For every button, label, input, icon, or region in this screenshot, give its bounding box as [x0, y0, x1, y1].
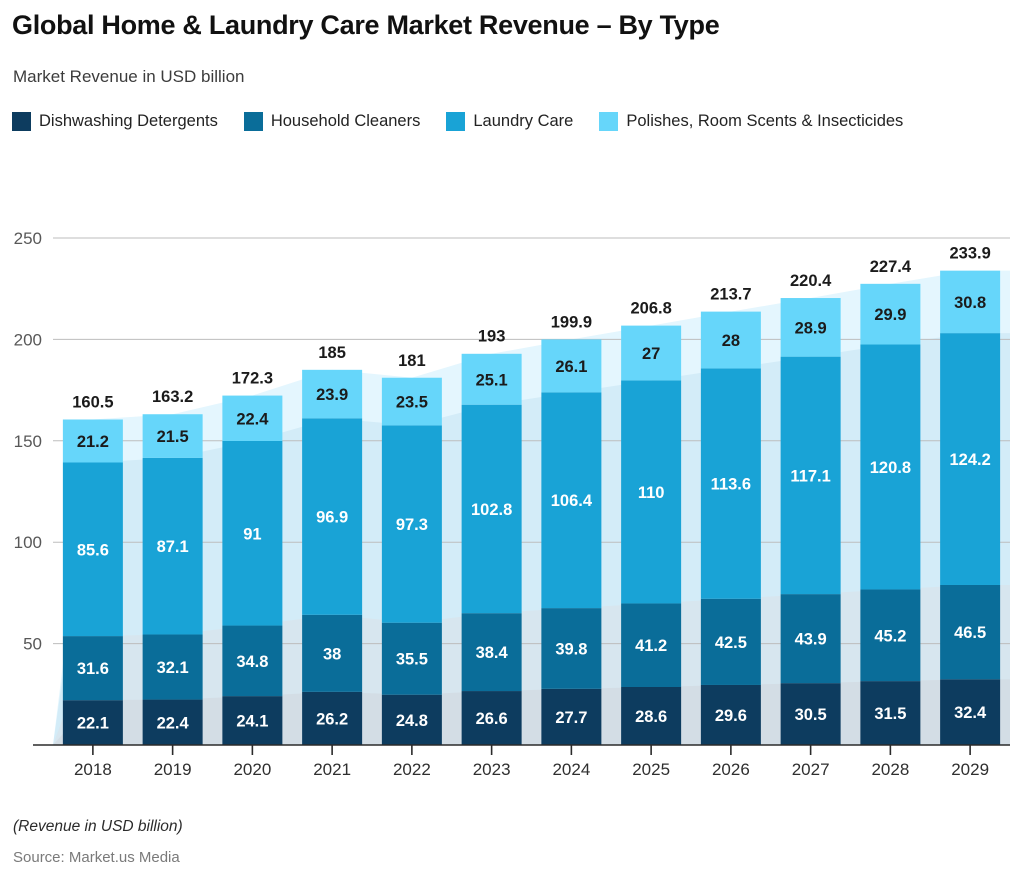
bar-segment-value-label: 22.1: [77, 715, 109, 733]
chart-page: Global Home & Laundry Care Market Revenu…: [0, 0, 1022, 883]
bar-segment[interactable]: [701, 599, 761, 685]
bar-segment[interactable]: [860, 681, 920, 745]
bar-total-label: 213.7: [710, 286, 751, 304]
bar-segment[interactable]: [621, 687, 681, 745]
y-axis-tick-label: 100: [14, 533, 42, 552]
bar-total-label: 227.4: [870, 258, 912, 276]
x-axis-tick-label: 2026: [712, 760, 750, 779]
bar-segment[interactable]: [940, 271, 1000, 333]
bar-segment-value-label: 30.8: [954, 294, 986, 312]
bar-segment-value-label: 26.6: [476, 710, 508, 728]
bar-segment[interactable]: [302, 692, 362, 745]
x-axis-tick-label: 2018: [74, 760, 112, 779]
y-axis-tick-label: 50: [23, 635, 42, 654]
bar-segment-value-label: 28.6: [635, 708, 667, 726]
bar-segment-value-label: 96.9: [316, 509, 348, 527]
bar-segment-value-label: 97.3: [396, 516, 428, 534]
bar-segment-value-label: 38.4: [476, 644, 509, 662]
legend-item-1[interactable]: Household Cleaners: [244, 112, 421, 131]
background-area-2: [53, 333, 1010, 745]
bar-segment-value-label: 27.7: [555, 709, 587, 727]
bar-segment[interactable]: [781, 357, 841, 594]
bar-segment[interactable]: [940, 333, 1000, 585]
chart-subtitle: Market Revenue in USD billion: [13, 67, 245, 87]
bar-segment[interactable]: [541, 392, 601, 608]
background-area-layers: [53, 271, 1010, 745]
bar-segment[interactable]: [222, 696, 282, 745]
bar-segment[interactable]: [541, 608, 601, 689]
legend-item-2[interactable]: Laundry Care: [446, 112, 573, 131]
bar-total-label: 163.2: [152, 388, 193, 406]
bar-segment-value-label: 28.9: [795, 319, 827, 337]
bar-segment[interactable]: [222, 396, 282, 441]
legend-item-label: Polishes, Room Scents & Insecticides: [626, 112, 903, 131]
y-axis-tick-label: 150: [14, 432, 42, 451]
bar-segment[interactable]: [621, 326, 681, 381]
bar-total-label: 160.5: [72, 394, 113, 412]
bar-segment[interactable]: [382, 623, 442, 695]
background-area-0: [53, 679, 1010, 745]
x-axis-tick-label: 2023: [473, 760, 511, 779]
bar-total-label: 199.9: [551, 314, 592, 332]
bar-segment-value-label: 31.5: [874, 705, 906, 723]
bar-segment-value-label: 39.8: [555, 640, 587, 658]
bar-segment-value-label: 113.6: [711, 476, 751, 494]
bar-segment[interactable]: [63, 420, 123, 463]
bar-segment[interactable]: [701, 685, 761, 745]
bar-segment[interactable]: [781, 298, 841, 357]
bar-segment[interactable]: [940, 679, 1000, 745]
bar-segment-value-label: 31.6: [77, 660, 109, 678]
bar-segment-value-label: 23.9: [316, 386, 348, 404]
bar-total-label: 206.8: [630, 300, 671, 318]
axes-layer: 2018201920202021202220232024202520262027…: [33, 745, 1010, 779]
bar-segment-value-label: 120.8: [870, 459, 911, 477]
chart-plot-area: 5010015020025022.131.685.621.2160.522.43…: [0, 0, 1022, 883]
bar-segment-value-label: 25.1: [476, 371, 508, 389]
bar-segment[interactable]: [541, 689, 601, 745]
bar-segment[interactable]: [462, 691, 522, 745]
bar-segment[interactable]: [462, 405, 522, 613]
bar-segment-value-label: 41.2: [635, 637, 667, 655]
bar-segment[interactable]: [701, 368, 761, 598]
bar-segment-value-label: 24.1: [236, 713, 268, 731]
bar-segment-value-label: 87.1: [157, 538, 189, 556]
legend-item-3[interactable]: Polishes, Room Scents & Insecticides: [599, 112, 903, 131]
bar-segment-value-label: 32.4: [954, 704, 987, 722]
bar-segment-value-label: 28: [722, 332, 740, 350]
bar-segment[interactable]: [302, 615, 362, 692]
bar-segment[interactable]: [63, 462, 123, 636]
bar-segment[interactable]: [621, 603, 681, 687]
bar-segment[interactable]: [860, 284, 920, 345]
bar-segment[interactable]: [302, 418, 362, 615]
background-area-1: [53, 585, 1010, 745]
footer-note: (Revenue in USD billion): [13, 818, 183, 836]
bar-segment-value-label: 110: [638, 484, 665, 502]
bar-segment[interactable]: [781, 683, 841, 745]
x-axis-tick-label: 2025: [632, 760, 670, 779]
bar-segment[interactable]: [541, 339, 601, 392]
bar-segment[interactable]: [143, 634, 203, 699]
bar-total-label: 220.4: [790, 272, 832, 290]
bar-total-label: 181: [398, 352, 426, 370]
footer-source: Source: Market.us Media: [13, 849, 180, 866]
bar-segment-value-label: 27: [642, 345, 660, 363]
bar-segment-value-label: 106.4: [551, 492, 593, 510]
bar-segment-value-label: 124.2: [949, 451, 990, 469]
legend-item-label: Laundry Care: [473, 112, 573, 131]
bar-segment-value-label: 34.8: [236, 653, 268, 671]
legend-swatch-icon: [446, 112, 465, 131]
bar-segment[interactable]: [382, 695, 442, 745]
bars-layer: [63, 271, 1000, 745]
bar-total-label: 233.9: [949, 245, 990, 263]
bar-segment[interactable]: [63, 700, 123, 745]
legend-swatch-icon: [599, 112, 618, 131]
bar-segment[interactable]: [860, 344, 920, 589]
bar-segment-value-label: 117.1: [790, 467, 830, 485]
bar-segment-value-label: 26.1: [555, 358, 587, 376]
bar-segment[interactable]: [781, 594, 841, 683]
bar-segment-value-label: 38: [323, 645, 341, 663]
x-axis-tick-label: 2020: [233, 760, 271, 779]
x-axis-tick-label: 2024: [552, 760, 590, 779]
bar-segment[interactable]: [143, 700, 203, 745]
bar-segment-value-label: 30.5: [795, 706, 827, 724]
bar-total-label: 193: [478, 328, 506, 346]
legend-item-0[interactable]: Dishwashing Detergents: [12, 112, 218, 131]
value-labels-layer: 22.131.685.621.2160.522.432.187.121.5163…: [72, 245, 991, 733]
bar-segment-value-label: 21.5: [157, 428, 189, 446]
bar-segment[interactable]: [701, 312, 761, 369]
bar-segment[interactable]: [940, 585, 1000, 679]
background-area-3: [53, 271, 1010, 745]
bar-segment-value-label: 23.5: [396, 394, 428, 412]
bar-segment-value-label: 91: [243, 525, 261, 543]
y-axis-tick-label: 250: [14, 229, 42, 248]
bar-segment[interactable]: [143, 414, 203, 458]
x-axis-tick-label: 2021: [313, 760, 351, 779]
bar-segment-value-label: 24.8: [396, 712, 428, 730]
chart-legend: Dishwashing DetergentsHousehold Cleaners…: [12, 112, 1002, 131]
x-axis-tick-label: 2029: [951, 760, 989, 779]
bar-segment-value-label: 43.9: [795, 631, 827, 649]
bar-segment-value-label: 22.4: [157, 714, 190, 732]
legend-swatch-icon: [12, 112, 31, 131]
y-axis-tick-label: 200: [14, 330, 42, 349]
bar-segment[interactable]: [382, 378, 442, 426]
bar-segment[interactable]: [860, 589, 920, 681]
bar-segment-value-label: 29.6: [715, 707, 747, 725]
bar-segment-value-label: 32.1: [157, 659, 189, 677]
bar-segment[interactable]: [222, 626, 282, 697]
bar-segment-value-label: 22.4: [236, 410, 269, 428]
bar-segment-value-label: 45.2: [874, 627, 906, 645]
x-axis-tick-label: 2022: [393, 760, 431, 779]
bar-segment[interactable]: [63, 636, 123, 700]
bar-segment[interactable]: [462, 354, 522, 405]
legend-item-label: Dishwashing Detergents: [39, 112, 218, 131]
legend-swatch-icon: [244, 112, 263, 131]
bar-segment[interactable]: [302, 370, 362, 418]
bar-segment-value-label: 29.9: [874, 306, 906, 324]
bar-total-label: 172.3: [232, 370, 273, 388]
bar-segment-value-label: 26.2: [316, 710, 348, 728]
bar-segment-value-label: 21.2: [77, 433, 109, 451]
bar-segment[interactable]: [621, 380, 681, 603]
bar-segment-value-label: 46.5: [954, 624, 986, 642]
x-axis-tick-label: 2019: [154, 760, 192, 779]
bar-segment[interactable]: [382, 425, 442, 622]
bar-segment-value-label: 35.5: [396, 651, 428, 669]
gridlines: 50100150200250: [14, 229, 1010, 654]
page-title: Global Home & Laundry Care Market Revenu…: [12, 10, 719, 41]
legend-item-label: Household Cleaners: [271, 112, 421, 131]
x-axis-tick-label: 2028: [871, 760, 909, 779]
bar-segment[interactable]: [462, 613, 522, 691]
bar-segment-value-label: 102.8: [471, 501, 512, 519]
bar-segment-value-label: 85.6: [77, 541, 109, 559]
bar-segment[interactable]: [143, 458, 203, 635]
x-axis-tick-label: 2027: [792, 760, 830, 779]
bar-segment[interactable]: [222, 441, 282, 626]
bar-segment-value-label: 42.5: [715, 634, 747, 652]
bar-total-label: 185: [318, 344, 346, 362]
